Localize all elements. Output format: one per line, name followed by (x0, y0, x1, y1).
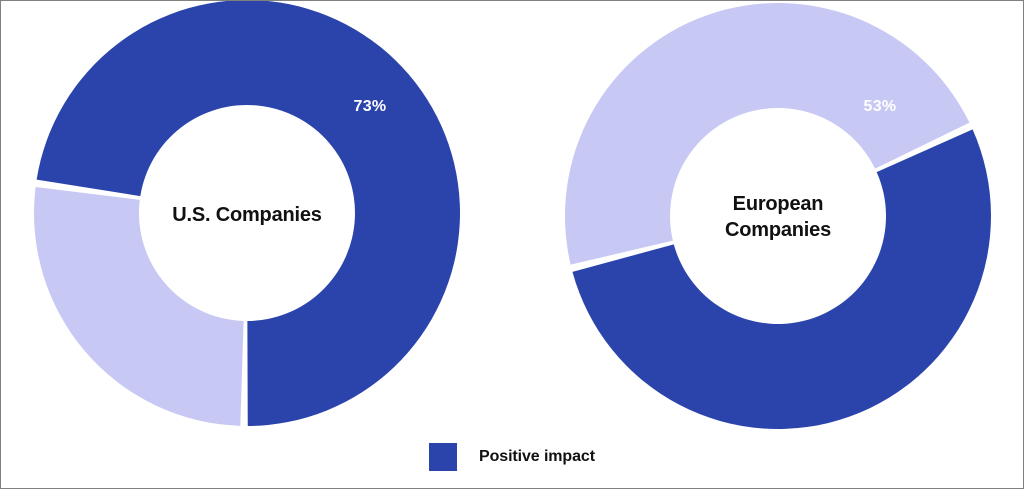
legend-swatch-positive-impact (429, 443, 457, 471)
donut-slice-other-us[interactable] (34, 187, 244, 426)
donut-chart-us-companies (1, 1, 513, 439)
donut-slices-us (34, 1, 460, 426)
legend-label-positive-impact: Positive impact (479, 448, 595, 466)
donut-chart-figure: U.S. Companies 73% European Companies 53… (0, 0, 1024, 489)
chart-legend: Positive impact (1, 443, 1023, 471)
charts-area: U.S. Companies 73% European Companies 53… (1, 1, 1024, 489)
donut-slices-eu (565, 3, 991, 429)
legend-item-positive-impact[interactable]: Positive impact (429, 443, 595, 471)
donut-chart-european-companies (513, 2, 1024, 442)
